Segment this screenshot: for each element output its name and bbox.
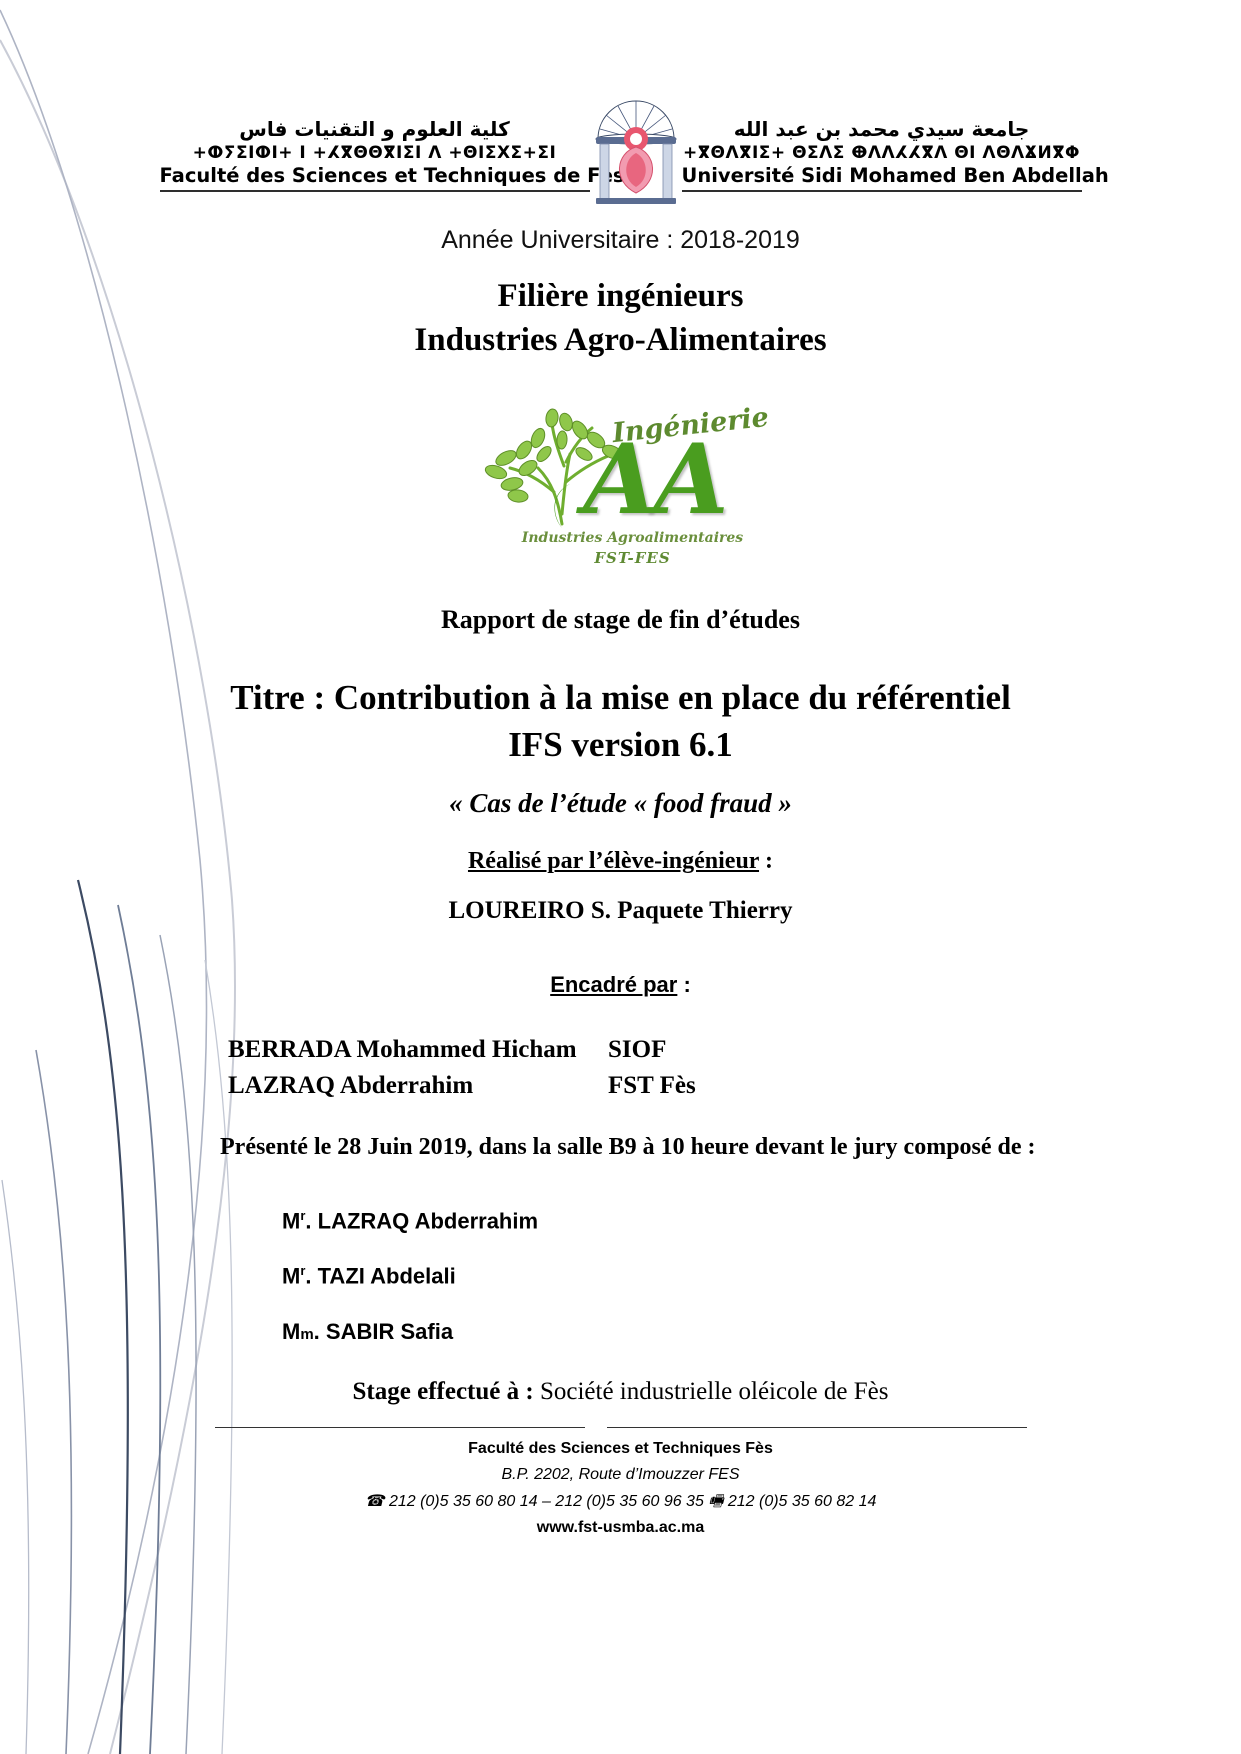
footer-contact: ☎ 212 (0)5 35 60 80 14 – 212 (0)5 35 60 … bbox=[0, 1489, 1241, 1515]
internship-host-label: Stage effectué à : bbox=[353, 1378, 540, 1405]
supervisors-section-label-colon: : bbox=[677, 972, 690, 997]
author-section-label-colon: : bbox=[759, 848, 773, 874]
supervisors-section-label: Encadré par : bbox=[0, 972, 1241, 998]
supervisor-org: FST Fès bbox=[608, 1068, 696, 1104]
jury-member: Mr. LAZRAQ Abderrahim bbox=[282, 1208, 538, 1234]
footer-website: www.fst-usmba.ac.ma bbox=[0, 1515, 1241, 1541]
footer-institution: Faculté des Sciences et Techniques Fès bbox=[0, 1436, 1241, 1462]
jury-member-name: TAZI Abdelali bbox=[318, 1264, 456, 1289]
academic-year: Année Universitaire : 2018-2019 bbox=[0, 226, 1241, 255]
jury-member-sep: . bbox=[305, 1264, 317, 1289]
author-section-label-underlined: Réalisé par l’élève-ingénieur bbox=[468, 848, 759, 874]
footer-divider-left bbox=[215, 1427, 585, 1428]
header-divider-left bbox=[160, 190, 590, 192]
footer-address: B.P. 2202, Route d’Imouzzer FES bbox=[0, 1462, 1241, 1488]
header-divider-right bbox=[682, 190, 1082, 192]
footer-divider bbox=[0, 1427, 1241, 1428]
supervisors-section-label-underlined: Encadré par bbox=[550, 972, 677, 997]
jury-member-sep: . bbox=[314, 1319, 326, 1344]
author-name: LOUREIRO S. Paquete Thierry bbox=[0, 897, 1241, 925]
author-section-label: Réalisé par l’élève-ingénieur : bbox=[0, 848, 1241, 875]
jury-member: Mr. TAZI Abdelali bbox=[282, 1263, 538, 1289]
jury-member-name: LAZRAQ Abderrahim bbox=[318, 1208, 538, 1233]
report-type-label: Rapport de stage de fin d’études bbox=[0, 605, 1241, 635]
thesis-title-line1: Titre : Contribution à la mise en place … bbox=[60, 675, 1181, 722]
faculty-name-arabic: كلية العلوم و التقنيات فاس bbox=[160, 117, 590, 142]
university-name-tifinagh: +ⴳΘΛⴳⵏΣ+ ΘΣΛΣ ⴲⴷΛⵃⵃⴳΛ ΘI ΛΘΛⴴИⴳΦ bbox=[682, 142, 1082, 164]
university-name-french: Université Sidi Mohamed Ben Abdellah bbox=[682, 164, 1082, 188]
footer-divider-right bbox=[607, 1427, 1027, 1428]
document-page: كلية العلوم و التقنيات فاس +ⵀⵢΣⵏⵀI+ I +ⵃ… bbox=[0, 0, 1241, 1754]
supervisor-name: BERRADA Mohammed Hicham bbox=[228, 1032, 608, 1068]
iaa-program-logo: Ingénierie AA Industries Agroalimentaire… bbox=[0, 380, 1241, 580]
thesis-title: Titre : Contribution à la mise en place … bbox=[60, 675, 1181, 768]
jury-member-sep: . bbox=[305, 1208, 317, 1233]
thesis-title-line2: IFS version 6.1 bbox=[60, 722, 1181, 769]
faculty-name-tifinagh: +ⵀⵢΣⵏⵀI+ I +ⵃⴳΘΘⴳIΣI Λ +ΘIΣXΣ+ΣI bbox=[160, 142, 590, 164]
iaa-logo-school: FST-FES bbox=[508, 549, 758, 567]
supervisors-list: BERRADA Mohammed Hicham SIOF LAZRAQ Abde… bbox=[228, 1032, 928, 1103]
program-title: Filière ingénieurs Industries Agro-Alime… bbox=[0, 275, 1241, 362]
supervisor-row: LAZRAQ Abderrahim FST Fès bbox=[228, 1068, 928, 1104]
program-title-line1: Filière ingénieurs bbox=[0, 275, 1241, 319]
thesis-subtitle: « Cas de l’étude « food fraud » bbox=[0, 788, 1241, 819]
jury-member-title: M bbox=[282, 1208, 300, 1233]
jury-list: Mr. LAZRAQ Abderrahim Mr. TAZI Abdelali … bbox=[282, 1208, 538, 1374]
supervisor-name: LAZRAQ Abderrahim bbox=[228, 1068, 608, 1104]
document-footer: Faculté des Sciences et Techniques Fès B… bbox=[0, 1436, 1241, 1542]
jury-member-title-sub: m bbox=[300, 1326, 313, 1343]
jury-member-title: M bbox=[282, 1264, 300, 1289]
program-title-line2: Industries Agro-Alimentaires bbox=[0, 319, 1241, 363]
supervisor-row: BERRADA Mohammed Hicham SIOF bbox=[228, 1032, 928, 1068]
defense-statement: Présenté le 28 Juin 2019, dans la salle … bbox=[220, 1130, 1181, 1165]
internship-host: Stage effectué à : Société industrielle … bbox=[0, 1378, 1241, 1406]
jury-member-title: M bbox=[282, 1319, 300, 1344]
jury-member: Mm. SABIR Safia bbox=[282, 1319, 538, 1345]
internship-host-value: Société industrielle oléicole de Fès bbox=[540, 1378, 889, 1405]
jury-member-name: SABIR Safia bbox=[326, 1319, 453, 1344]
faculty-name-french: Faculté des Sciences et Techniques de Fè… bbox=[160, 164, 590, 188]
iaa-logo-subtitle: Industries Agroalimentaires bbox=[508, 530, 758, 546]
university-identity-block: جامعة سيدي محمد بن عبد الله +ⴳΘΛⴳⵏΣ+ ΘΣΛ… bbox=[682, 95, 1082, 192]
iaa-logo-monogram: AA bbox=[584, 432, 725, 528]
university-seal-icon bbox=[590, 95, 682, 207]
faculty-identity-block: كلية العلوم و التقنيات فاس +ⵀⵢΣⵏⵀI+ I +ⵃ… bbox=[160, 95, 590, 192]
supervisor-org: SIOF bbox=[608, 1032, 666, 1068]
university-name-arabic: جامعة سيدي محمد بن عبد الله bbox=[682, 117, 1082, 142]
document-header: كلية العلوم و التقنيات فاس +ⵀⵢΣⵏⵀI+ I +ⵃ… bbox=[0, 95, 1241, 210]
